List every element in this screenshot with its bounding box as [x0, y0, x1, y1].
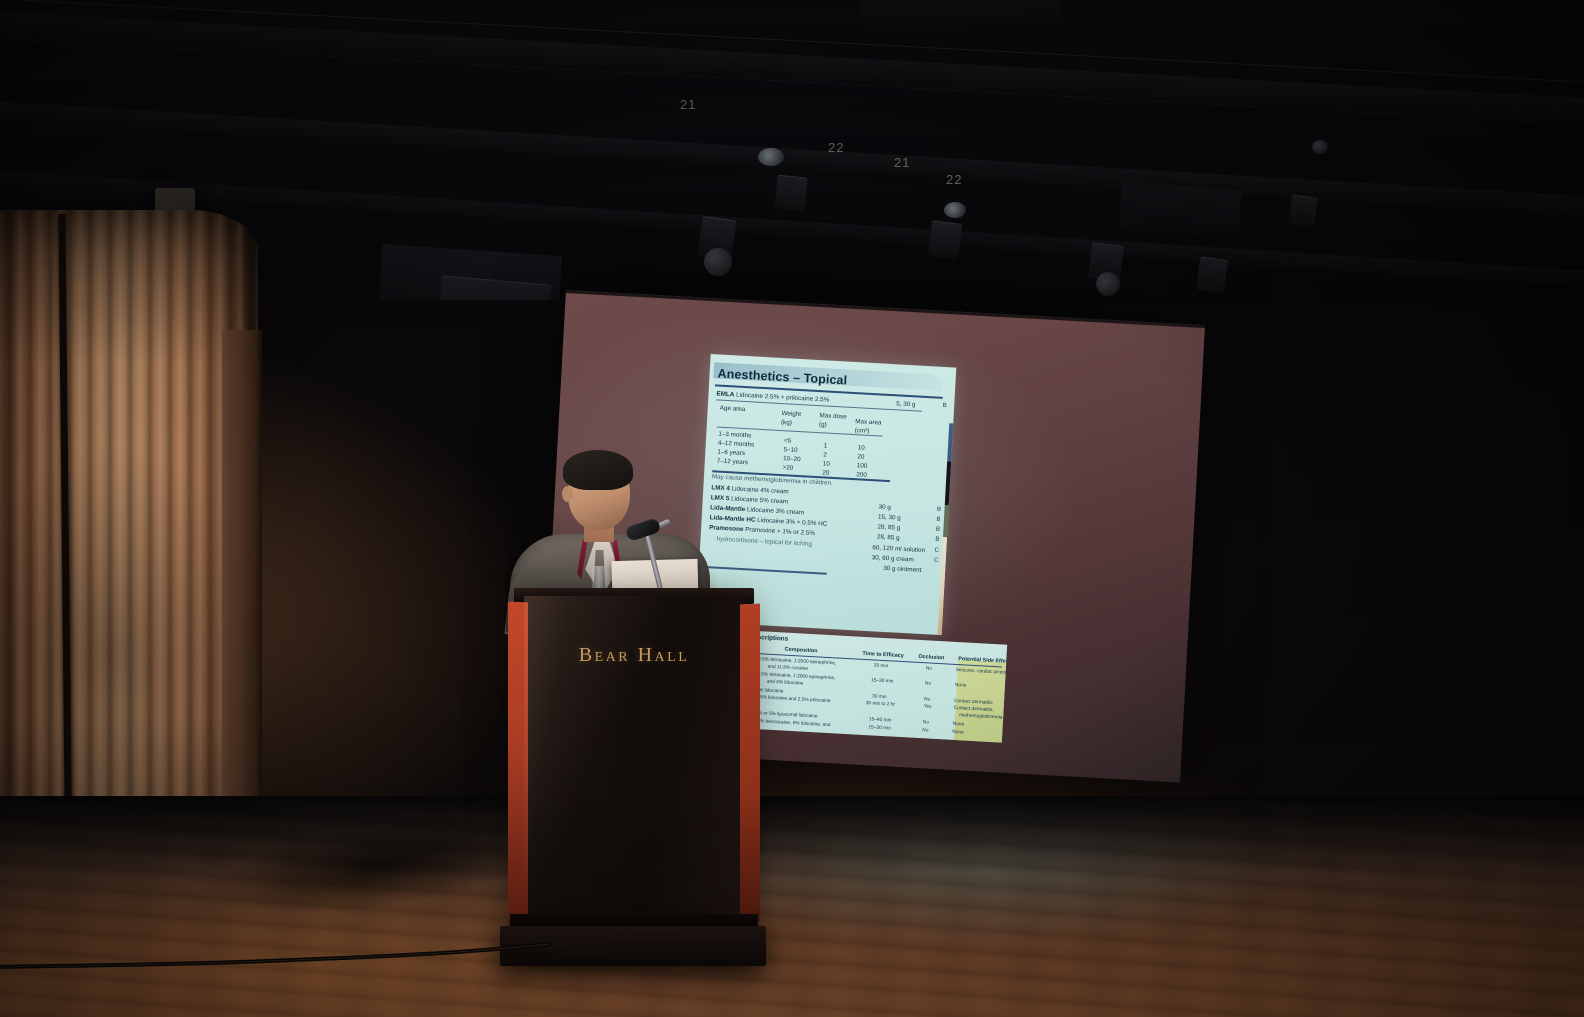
stage-light-fixture — [928, 220, 962, 259]
table-header-dose: Max dose — [819, 412, 847, 420]
product-size: 15, 30 g — [878, 513, 901, 521]
stage-light-head — [1096, 272, 1120, 296]
table-header-weight: Weight — [781, 410, 801, 418]
cell-area: 100 — [857, 462, 868, 470]
stage-light-fixture — [1196, 256, 1228, 294]
cell-composition: 4% or 5% liposomal lidocaine — [755, 711, 818, 719]
table-header-weight-unit: (kg) — [781, 419, 792, 427]
cell-age: 1–3 months — [718, 431, 751, 440]
product-size: 60, 120 ml solution — [872, 544, 925, 554]
cell-occlusion: No — [922, 728, 928, 733]
cell-effects: None — [952, 730, 964, 736]
stage-light-lens — [944, 202, 966, 218]
product-desc: Lidocaine 3% + 0.5% HC — [755, 517, 827, 528]
cell-weight: 10–20 — [783, 455, 801, 463]
product-rating: C — [932, 558, 941, 564]
product-rating: B — [934, 507, 943, 513]
truss-number-label: 22 — [828, 140, 844, 155]
product-desc: hydrocortisone – topical for itching — [716, 536, 812, 548]
stage-light-fixture — [774, 175, 807, 212]
product-rating: B — [934, 517, 943, 523]
cell-age: 7–12 years — [717, 458, 748, 467]
cell-time: 15–30 min — [871, 678, 894, 684]
emla-sizes: 5, 30 g — [896, 400, 916, 408]
stage-light-fixture — [1288, 194, 1318, 227]
table-header-area: Max area — [855, 418, 882, 426]
cell-age: 1–6 years — [717, 449, 745, 458]
product-size: 28, 85 g — [877, 533, 900, 541]
product-size: 28, 85 g — [877, 523, 900, 531]
floor-power-cable — [0, 940, 550, 966]
cell-dose: 2 — [823, 451, 827, 458]
product-desc: Lidocaine 3% cream — [745, 506, 804, 516]
speaker-ear — [562, 486, 573, 502]
cell-occlusion: No — [924, 697, 930, 702]
cell-area: 10 — [858, 444, 865, 451]
stage-light-head — [704, 248, 732, 276]
product-rating: B — [933, 527, 942, 533]
product-desc: Lidocaine 5% cream — [729, 495, 788, 505]
product-rating: C — [932, 548, 941, 554]
product-name: Lida-Mantle HC — [710, 514, 756, 524]
cell-occlusion: No — [926, 666, 932, 671]
stage-light-lens — [758, 148, 784, 166]
cell-time: 30 min — [872, 694, 887, 700]
product-desc: Lidocaine 4% cream — [730, 485, 789, 495]
stage-floor — [0, 796, 1584, 1017]
lectern-podium: Bear Hall — [508, 596, 760, 986]
stage-light-lens — [1312, 140, 1328, 154]
product-size: 30 g — [878, 504, 891, 512]
cell-time: 15–30 min — [868, 725, 891, 731]
cell-weight: 5–10 — [783, 446, 797, 454]
cell-dose: 10 — [823, 460, 830, 467]
cell-effects: None — [953, 722, 965, 728]
cell-occlusion: Yes — [924, 704, 932, 709]
column-header-composition: Composition — [784, 647, 817, 655]
emla-rating: B — [940, 403, 949, 409]
truss-number-label: 22 — [946, 172, 962, 187]
emla-label: EMLA — [716, 390, 734, 398]
column-header-time: Time to Efficacy — [862, 651, 904, 659]
speaker-hair — [563, 450, 633, 490]
cell-composition: 4% lidocaine — [756, 688, 783, 694]
cell-composition-2: and 11.8% cocaine — [767, 665, 808, 672]
cell-weight: <5 — [784, 437, 792, 444]
cell-time: 30 min — [874, 663, 889, 669]
truss-number-label: 21 — [894, 155, 910, 170]
cell-composition: 2.5% lidocaine and 2.5% prilocaine — [756, 695, 831, 704]
cell-weight: >20 — [782, 464, 793, 472]
table-header-dose-unit: (g) — [819, 421, 827, 428]
cell-effects: None — [955, 683, 967, 689]
ceiling-duct — [1118, 182, 1241, 238]
cell-time: 15–40 min — [869, 717, 892, 723]
cell-occlusion: No — [925, 681, 931, 686]
cell-age: 4–12 months — [718, 440, 755, 449]
cell-time: 30 min to 2 hr — [866, 701, 896, 708]
product-size: 30 g ointment — [883, 565, 921, 574]
product-desc: Pramoxine + 1% or 2.5% — [743, 526, 815, 537]
cable-path — [0, 940, 560, 970]
podium-venue-nameplate: Bear Hall — [524, 644, 744, 667]
product-rating: B — [933, 537, 942, 543]
cell-occlusion: No — [923, 720, 929, 725]
cell-dose: 1 — [824, 442, 828, 449]
ceiling-duct — [860, 0, 1060, 34]
column-header-occlusion: Occlusion — [918, 654, 944, 661]
auditorium-photo: 21 22 21 22 Anesthetics – Topical — [0, 0, 1584, 1017]
slide-bottom-rule — [707, 566, 827, 574]
product-size: 30, 60 g cream — [872, 554, 914, 563]
cell-area: 20 — [857, 453, 864, 460]
cell-composition: 20% benzocaine, 6% lidocaine, and — [754, 719, 830, 728]
truss-number-label: 21 — [680, 97, 696, 112]
cell-composition-2: and 4% lidocaine — [767, 680, 804, 687]
table-header-age: Age area — [720, 405, 746, 413]
